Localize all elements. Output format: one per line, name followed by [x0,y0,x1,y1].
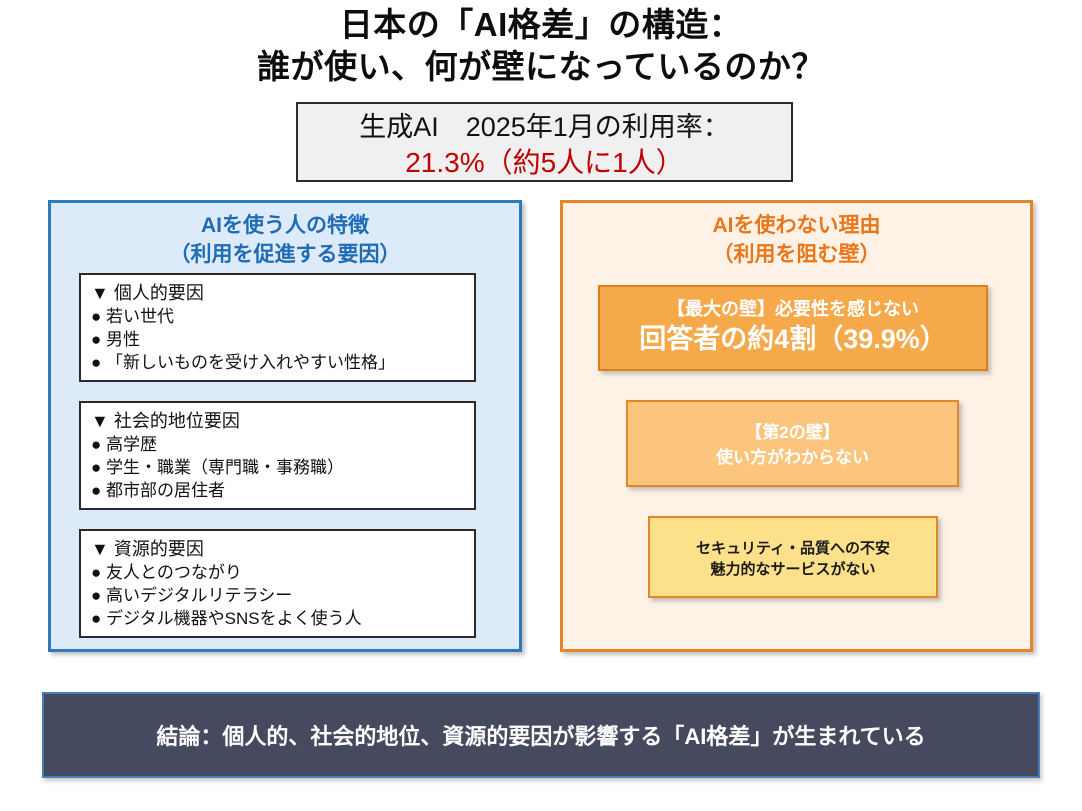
adopter-traits-panel: AIを使う人の特徴 （利用を促進する要因） ▼ 個人的要因 ● 若い世代 ● 男… [48,200,522,652]
factor-card-item: ● 高いデジタルリテラシー [91,584,464,607]
adopter-traits-header: AIを使う人の特徴 （利用を促進する要因） [51,203,519,269]
barrier-box-primary: 【最大の壁】必要性を感じない 回答者の約4割（39.9%） [598,285,988,371]
factor-card-item: ● デジタル機器やSNSをよく使う人 [91,607,464,630]
conclusion-bar: 結論：個人的、社会的地位、資源的要因が影響する「AI格差」が生まれている [42,692,1040,778]
factor-card-personal: ▼ 個人的要因 ● 若い世代 ● 男性 ● 「新しいものを受け入れやすい性格」 [79,273,476,382]
factor-card-item: ● 「新しいものを受け入れやすい性格」 [91,351,464,374]
factor-card-item: ● 高学歴 [91,433,464,456]
barrier-box-subtitle: セキュリティ・品質への不安 [650,538,936,559]
usage-rate-label: 生成AI 2025年1月の利用率： [298,109,791,145]
factor-card-item: ● 若い世代 [91,305,464,328]
barrier-box-subtitle: 【第2の壁】 [628,420,957,445]
page-title: 日本の「AI格差」の構造： 誰が使い、何が壁になっているのか？ [0,4,1082,88]
barrier-box-tertiary: セキュリティ・品質への不安 魅力的なサービスがない [648,516,938,598]
factor-card-title: ▼ 社会的地位要因 [91,409,464,433]
barrier-box-value: 回答者の約4割（39.9%） [600,321,986,357]
page-title-line-2: 誰が使い、何が壁になっているのか？ [0,46,1082,88]
barriers-panel: AIを使わない理由 （利用を阻む壁） 【最大の壁】必要性を感じない 回答者の約4… [560,200,1033,652]
barrier-box-secondary: 【第2の壁】 使い方がわからない [626,400,959,487]
barrier-box-value: 魅力的なサービスがない [650,559,936,580]
adopter-traits-header-line-1: AIを使う人の特徴 [51,211,519,240]
adopter-traits-header-line-2: （利用を促進する要因） [51,240,519,269]
factor-card-item: ● 学生・職業（専門職・事務職） [91,456,464,479]
factor-card-item: ● 友人とのつながり [91,561,464,584]
factor-card-title: ▼ 資源的要因 [91,537,464,561]
factor-card-item: ● 都市部の居住者 [91,479,464,502]
barriers-header: AIを使わない理由 （利用を阻む壁） [563,203,1030,269]
factor-card-title: ▼ 個人的要因 [91,281,464,305]
factor-card-social-status: ▼ 社会的地位要因 ● 高学歴 ● 学生・職業（専門職・事務職） ● 都市部の居… [79,401,476,510]
factor-card-resources: ▼ 資源的要因 ● 友人とのつながり ● 高いデジタルリテラシー ● デジタル機… [79,529,476,638]
barriers-header-line-2: （利用を阻む壁） [563,240,1030,269]
barrier-box-value: 使い方がわからない [628,445,957,470]
usage-rate-value: 21.3%（約5人に1人） [298,145,791,181]
factor-card-item: ● 男性 [91,328,464,351]
barrier-box-subtitle: 【最大の壁】必要性を感じない [600,297,986,321]
usage-rate-stat-box: 生成AI 2025年1月の利用率： 21.3%（約5人に1人） [296,102,793,182]
page-title-line-1: 日本の「AI格差」の構造： [0,4,1082,46]
barriers-header-line-1: AIを使わない理由 [563,211,1030,240]
